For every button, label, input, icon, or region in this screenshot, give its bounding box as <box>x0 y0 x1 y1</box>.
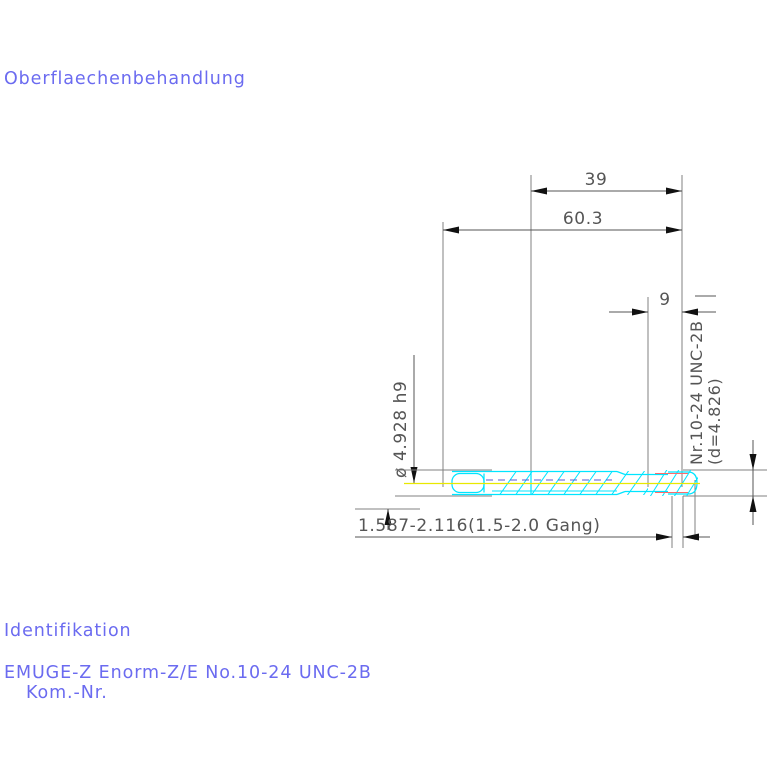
arrowhead-diameter-down <box>411 467 418 483</box>
dimension-thread-spec-label-1: Nr.10-24 UNC-2B <box>687 320 706 465</box>
arrowhead-60-3-right <box>666 227 682 234</box>
arrowhead-60-3-left <box>443 227 459 234</box>
dimension-shank-diameter: ø 4.928 h9 <box>391 355 418 483</box>
dimension-9-label: 9 <box>659 290 670 310</box>
arrowhead-thread-spec-top <box>750 454 757 470</box>
arrowhead-tip-right <box>683 534 699 541</box>
technical-drawing-svg: Oberflaechenbehandlung 39 60.3 <box>0 0 767 767</box>
arrowhead-39-right <box>666 188 682 195</box>
dimension-39: 39 <box>531 170 682 195</box>
arrowhead-9-left <box>632 309 648 316</box>
tool-neck-taper-bottom <box>617 492 625 495</box>
arrowhead-39-left <box>531 188 547 195</box>
dimension-tip-chamfer <box>648 496 710 548</box>
dimension-pitch-label: 1.587-2.116(1.5-2.0 Gang) <box>358 516 601 536</box>
arrowhead-tip-left <box>656 534 672 541</box>
dimension-thread-spec: Nr.10-24 UNC-2B (d=4.826) <box>687 320 757 525</box>
identification-line-1: EMUGE-Z Enorm-Z/E No.10-24 UNC-2B <box>4 663 372 683</box>
heading-identification: Identifikation <box>4 621 132 641</box>
dimension-9: 9 <box>609 290 716 316</box>
dimension-39-label: 39 <box>585 170 608 190</box>
identification-line-2: Kom.-Nr. <box>26 683 108 703</box>
dimension-thread-spec-label-2: (d=4.826) <box>705 378 724 465</box>
cad-drawing-canvas: Oberflaechenbehandlung 39 60.3 <box>0 0 767 767</box>
dimension-60-3-label: 60.3 <box>563 209 603 229</box>
heading-surface-treatment: Oberflaechenbehandlung <box>4 69 246 89</box>
dimension-shank-diameter-label: ø 4.928 h9 <box>391 381 411 478</box>
dimension-60-3: 60.3 <box>443 209 682 234</box>
arrowhead-9-right <box>682 309 698 316</box>
tap-tool-geometry <box>404 466 716 500</box>
arrowhead-thread-spec-bottom <box>750 496 757 512</box>
tool-neck-taper-top <box>617 472 625 475</box>
dimension-pitch: 1.587-2.116(1.5-2.0 Gang) <box>355 509 672 537</box>
